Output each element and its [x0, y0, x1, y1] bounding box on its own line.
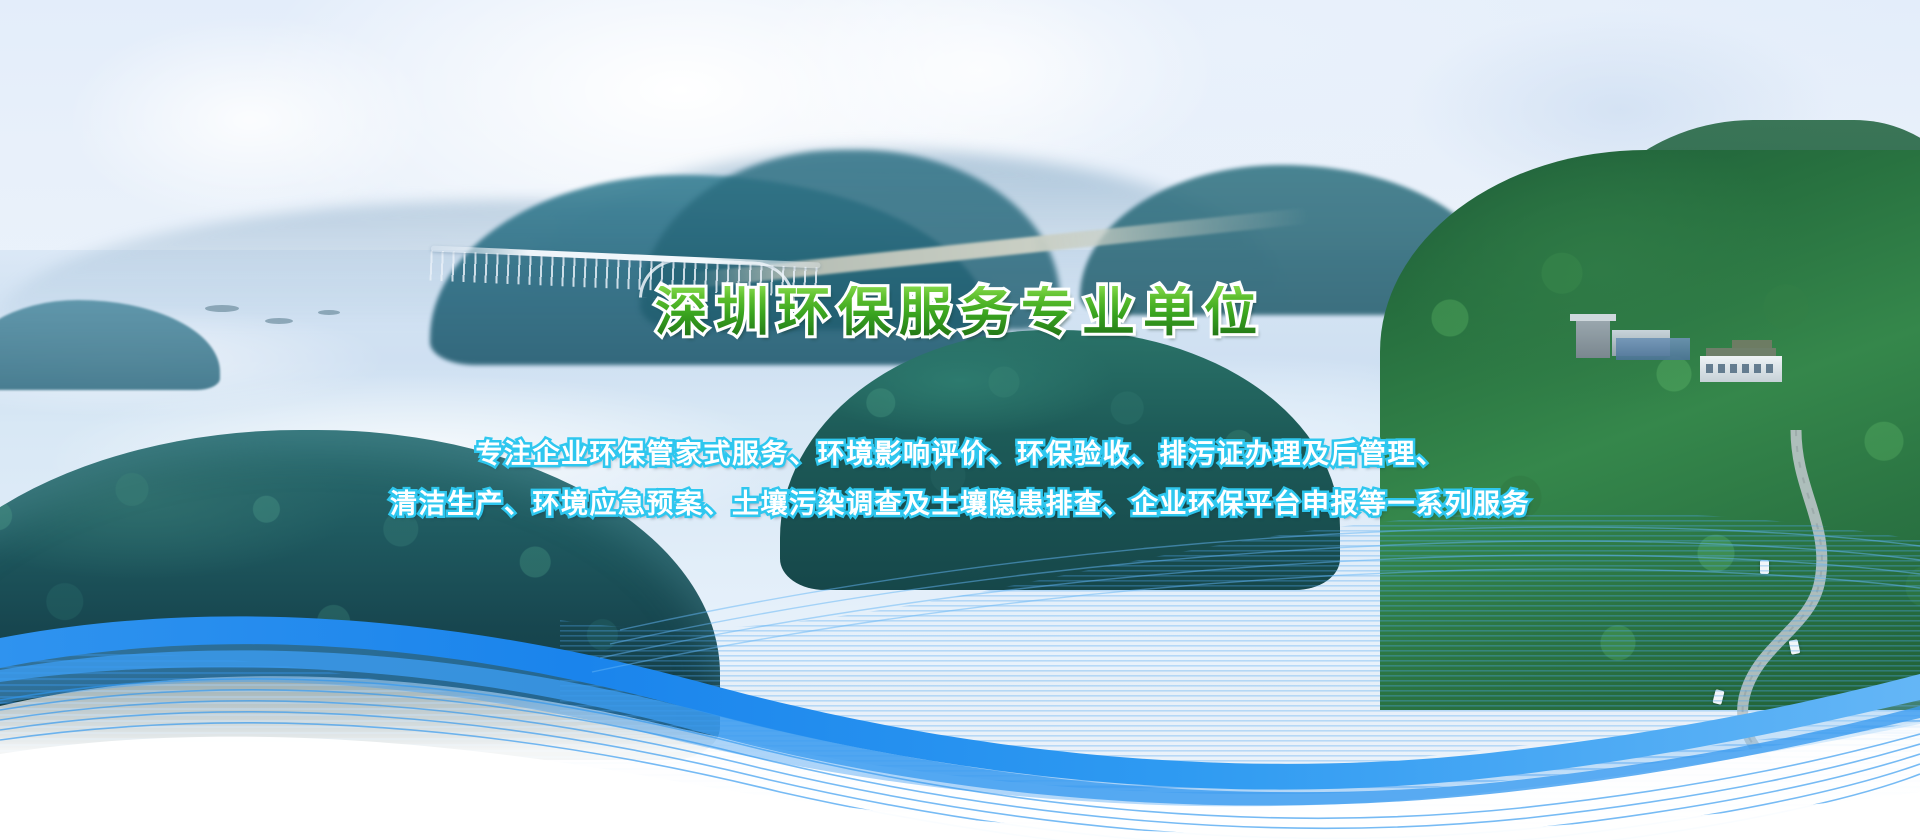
banner-copy: 深圳环保服务专业单位 深圳环保服务专业单位 专注企业环保管家式服务、环境影响评价… [0, 0, 1920, 840]
subtitle-line-1: 专注企业环保管家式服务、环境影响评价、环保验收、排污证办理及后管理、 专注企业环… [0, 430, 1920, 480]
hero-banner: 深圳环保服务专业单位 深圳环保服务专业单位 专注企业环保管家式服务、环境影响评价… [0, 0, 1920, 840]
subtitle-line-2: 清洁生产、环境应急预案、土壤污染调查及土壤隐患排查、企业环保平台申报等一系列服务… [0, 480, 1920, 530]
page-title: 深圳环保服务专业单位 [0, 286, 1920, 339]
banner-subtitle: 专注企业环保管家式服务、环境影响评价、环保验收、排污证办理及后管理、 专注企业环… [0, 430, 1920, 530]
subtitle-line-1-text: 专注企业环保管家式服务、环境影响评价、环保验收、排污证办理及后管理、 [0, 430, 1920, 480]
subtitle-line-2-text: 清洁生产、环境应急预案、土壤污染调查及土壤隐患排查、企业环保平台申报等一系列服务 [0, 480, 1920, 530]
